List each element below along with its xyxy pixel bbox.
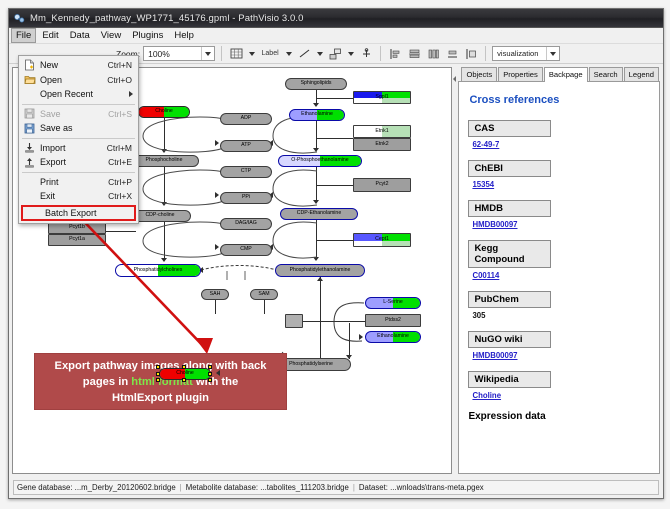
title-bar: Mm_Kennedy_pathway_WP1771_45176.gpml - P…: [9, 9, 663, 28]
menu-item-exit-accel: Ctrl+X: [108, 191, 138, 201]
arrowhead-left: [216, 370, 220, 376]
node-ptdss2[interactable]: Ptdss2: [365, 314, 421, 327]
menu-edit[interactable]: Edit: [37, 28, 63, 43]
menu-separator: [22, 172, 135, 173]
align-bottom-icon[interactable]: [444, 46, 460, 62]
node-cept1[interactable]: Cept1: [353, 233, 411, 247]
label-tool-icon[interactable]: Label: [259, 46, 281, 62]
arrowhead-down: [313, 103, 319, 107]
xref-value-wikipedia[interactable]: Choline: [472, 391, 651, 400]
node-phosphocholine[interactable]: Phosphocholine: [129, 155, 199, 167]
window-title: Mm_Kennedy_pathway_WP1771_45176.gpml - P…: [30, 13, 304, 24]
tab-properties[interactable]: Properties: [498, 67, 543, 81]
menu-item-import-accel: Ctrl+M: [107, 143, 138, 153]
line-tool-icon[interactable]: [296, 46, 312, 62]
menu-item-save: Save Ctrl+S: [19, 107, 138, 122]
import-icon: [19, 142, 40, 153]
edge-down-to-ps: [349, 323, 350, 359]
zoom-value: 100%: [148, 49, 201, 59]
xref-value-pubchem: 305: [472, 311, 651, 320]
node-atp[interactable]: ATP: [220, 140, 272, 152]
save-disk-icon: [19, 108, 40, 119]
xref-label-kegg: Kegg Compound: [468, 240, 551, 268]
tab-backpage[interactable]: Backpage: [544, 67, 588, 82]
xref-label-cas: CAS: [468, 120, 551, 137]
callout-line-3: HtmlExport plugin: [112, 390, 209, 406]
align-stack-icon[interactable]: [463, 46, 479, 62]
align-left-icon[interactable]: [387, 46, 403, 62]
xref-label-nugo: NuGO wiki: [468, 331, 551, 348]
selection-handle[interactable]: [208, 378, 212, 382]
menu-item-save-as-label: Save as: [40, 123, 132, 133]
save-as-disk-icon: [19, 123, 40, 134]
chevron-down-icon[interactable]: [201, 47, 214, 60]
splitter-grip-icon[interactable]: [453, 69, 457, 74]
menu-item-open-recent-label: Open Recent: [40, 89, 129, 99]
node-phosphatidylethanolamine[interactable]: Phosphatidylethanolamine: [275, 264, 365, 277]
export-icon: [19, 157, 40, 168]
tab-legend[interactable]: Legend: [624, 67, 659, 81]
status-bar-text: Gene database: ...m_Derby_20120602.bridg…: [13, 480, 659, 495]
edge-to-etnk: [316, 138, 353, 139]
menu-separator: [22, 104, 135, 105]
node-o-phosphoethanolamine[interactable]: O-Phosphoethanolamine: [278, 155, 362, 167]
selection-handle[interactable]: [208, 372, 212, 376]
menu-item-new-accel: Ctrl+N: [108, 60, 138, 70]
arrowhead-right: [215, 192, 219, 198]
tab-objects[interactable]: Objects: [461, 67, 497, 81]
loop-right-lower: [269, 219, 321, 263]
align-distribute-icon[interactable]: [425, 46, 441, 62]
node-etnk2[interactable]: Etnk2: [353, 138, 411, 151]
xref-label-chebi: ChEBI: [468, 160, 551, 177]
align-center-icon[interactable]: [406, 46, 422, 62]
menu-separator: [22, 138, 135, 139]
menu-item-print-label: Print: [40, 177, 108, 187]
selection-handle[interactable]: [156, 365, 160, 369]
status-bar: Gene database: ...m_Derby_20120602.bridg…: [9, 476, 663, 498]
menu-item-batch-export-label: Batch Export: [44, 208, 134, 218]
shape-tool-icon[interactable]: [327, 46, 343, 62]
line-dropdown-icon[interactable]: [315, 46, 324, 62]
arrowhead-right: [215, 140, 219, 146]
menu-item-save-label: Save: [40, 109, 108, 119]
pathvisio-window: Mm_Kennedy_pathway_WP1771_45176.gpml - P…: [8, 8, 664, 499]
menu-bar[interactable]: File Edit Data View Plugins Help: [9, 28, 663, 44]
node-adp[interactable]: ADP: [220, 113, 272, 125]
selection-handle[interactable]: [156, 372, 160, 376]
status-separator: |: [180, 483, 182, 492]
menu-item-new[interactable]: New Ctrl+N: [19, 58, 138, 73]
menu-item-exit[interactable]: Exit Ctrl+X: [19, 189, 138, 204]
edge-to-cept1: [316, 240, 353, 241]
menu-item-print-accel: Ctrl+P: [108, 177, 138, 187]
backpage-content: Cross references CAS 62-49-7 ChEBI 15354…: [458, 82, 660, 474]
annotation-red-arrow: [69, 208, 229, 360]
node-sphingolipids[interactable]: Sphingolipids: [285, 78, 347, 90]
status-gene-db-label: Gene database:: [17, 483, 73, 492]
submenu-arrow-icon: [129, 91, 133, 97]
menu-item-new-label: New: [40, 60, 108, 70]
selection-handle[interactable]: [156, 378, 160, 382]
status-gene-db-value: ...m_Derby_20120602.bridge: [75, 483, 176, 492]
menu-item-export-accel: Ctrl+E: [108, 157, 138, 167]
menu-item-save-as[interactable]: Save as: [19, 121, 138, 136]
menu-item-exit-label: Exit: [40, 191, 108, 201]
status-metabolite-db-value: ...tabolites_111203.bridge: [260, 483, 349, 492]
node-choline[interactable]: Choline: [138, 106, 190, 118]
status-separator: |: [353, 483, 355, 492]
pathway-anchor-box[interactable]: [285, 314, 303, 328]
node-ctp[interactable]: CTP: [220, 166, 272, 178]
node-sam[interactable]: SAM: [250, 289, 278, 300]
edge-sam-down: [264, 300, 265, 314]
selection-handle[interactable]: [182, 378, 186, 382]
pathvisio-app-icon: [14, 13, 25, 24]
edge-to-sgpl1: [316, 98, 353, 99]
grid-toggle-icon[interactable]: [228, 46, 244, 62]
status-metabolite-db-label: Metabolite database:: [186, 483, 258, 492]
menu-file[interactable]: File: [11, 28, 36, 43]
menu-item-open-accel: Ctrl+O: [107, 75, 138, 85]
callout-line-2a: pages in: [83, 376, 132, 388]
label-dropdown-icon[interactable]: [284, 46, 293, 62]
menu-view[interactable]: View: [96, 28, 126, 43]
menu-plugins[interactable]: Plugins: [127, 28, 168, 43]
status-dataset-value: ...wnloads\trans-meta.pgex: [390, 483, 484, 492]
xref-value-hmdb[interactable]: HMDB00097: [472, 220, 651, 229]
node-sgpl1[interactable]: Sgpl1: [353, 91, 411, 104]
xref-value-nugo[interactable]: HMDB00097: [472, 351, 651, 360]
xref-label-pubchem: PubChem: [468, 291, 551, 308]
arrowhead-right: [359, 334, 363, 340]
grid-dropdown-icon[interactable]: [247, 46, 256, 62]
visualization-value: visualization: [497, 49, 546, 58]
edge-to-pcyt2: [316, 185, 353, 186]
menu-item-import-label: Import: [40, 143, 107, 153]
edge-to-lserine: [320, 296, 368, 348]
node-ethanolamine[interactable]: Ethanolamine: [289, 109, 345, 121]
status-dataset-label: Dataset:: [359, 483, 388, 492]
menu-item-open-recent[interactable]: Open Recent: [19, 87, 138, 102]
side-panel-tabs[interactable]: Objects Properties Backpage Search Legen…: [458, 67, 660, 82]
menu-item-open[interactable]: Open Ctrl+O: [19, 73, 138, 88]
file-menu-dropdown[interactable]: New Ctrl+N Open Ctrl+O Open Recent: [18, 55, 139, 224]
node-l-serine[interactable]: L-Serine: [365, 297, 421, 309]
anchor-tool-icon[interactable]: [358, 46, 374, 62]
menu-item-export[interactable]: Export Ctrl+E: [19, 155, 138, 170]
menu-item-import[interactable]: Import Ctrl+M: [19, 141, 138, 156]
loop-right-mid: [269, 167, 321, 211]
open-folder-icon: [19, 74, 40, 85]
xref-label-wikipedia: Wikipedia: [468, 371, 551, 388]
zoom-combo[interactable]: 100%: [143, 46, 215, 61]
xref-value-kegg[interactable]: C00114: [472, 271, 651, 280]
expression-data-heading: Expression data: [468, 411, 651, 422]
screenshot-root: Mm_Kennedy_pathway_WP1771_45176.gpml - P…: [0, 0, 670, 509]
selection-handle[interactable]: [182, 365, 186, 369]
menu-item-open-label: Open: [40, 75, 107, 85]
menu-item-export-label: Export: [40, 157, 108, 167]
xref-value-cas[interactable]: 62-49-7: [472, 140, 651, 149]
xref-label-hmdb: HMDB: [468, 200, 551, 217]
menu-help[interactable]: Help: [169, 28, 199, 43]
selection-handle[interactable]: [208, 365, 212, 369]
side-panel: Objects Properties Backpage Search Legen…: [458, 67, 660, 474]
node-ppi[interactable]: PPi: [220, 192, 272, 204]
tab-search[interactable]: Search: [589, 67, 623, 81]
menu-item-save-accel: Ctrl+S: [108, 109, 138, 119]
edge-sphingo-to-etn: [316, 90, 317, 104]
chevron-down-icon[interactable]: [546, 47, 559, 60]
menu-data[interactable]: Data: [65, 28, 95, 43]
menu-item-print[interactable]: Print Ctrl+P: [19, 175, 138, 190]
cross-references-heading: Cross references: [469, 94, 651, 106]
xref-value-chebi[interactable]: 15354: [472, 180, 651, 189]
menu-item-batch-export[interactable]: Batch Export: [21, 205, 136, 221]
annotation-callout: Export pathway images along with back pa…: [34, 353, 287, 410]
node-cdp-ethanolamine[interactable]: CDP-Ethanolamine: [280, 208, 358, 220]
new-document-icon: [19, 59, 40, 71]
shape-dropdown-icon[interactable]: [346, 46, 355, 62]
visualization-combo[interactable]: visualization: [492, 46, 560, 61]
arrowhead-up: [317, 277, 323, 281]
node-pcyt2[interactable]: Pcyt2: [353, 178, 411, 192]
node-etnk1[interactable]: Etnk1: [353, 125, 411, 138]
node-ethanolamine-2[interactable]: Ethanolamine: [365, 331, 421, 343]
edge-anchor: [303, 321, 321, 322]
